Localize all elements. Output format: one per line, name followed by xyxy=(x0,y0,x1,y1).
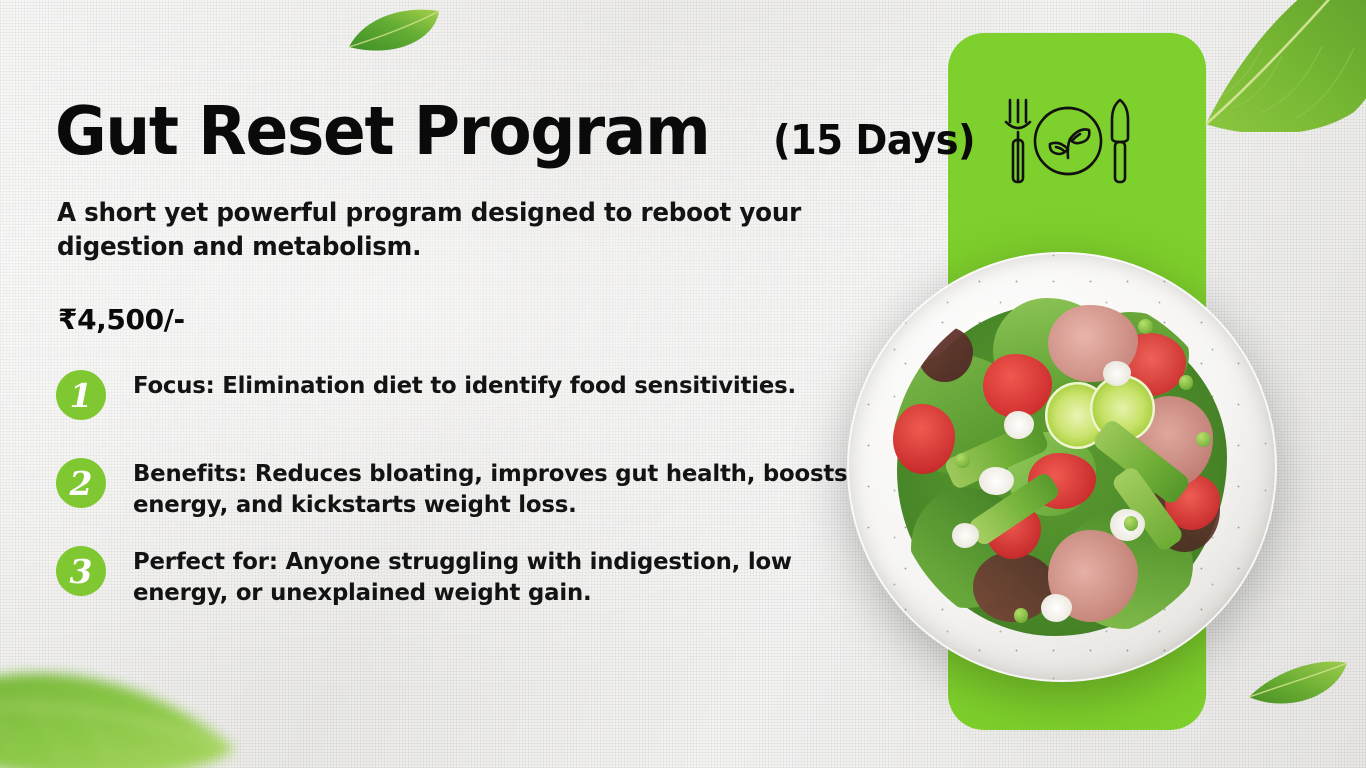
list-number-badge: 1 xyxy=(56,370,106,420)
list-item: 2 Benefits: Reduces bloating, improves g… xyxy=(56,456,886,522)
list-item-text: Benefits: Reduces bloating, improves gut… xyxy=(133,456,863,519)
list-number-badge: 2 xyxy=(56,458,106,508)
text-content: Gut Reset Program (15 Days) A short yet … xyxy=(0,0,948,768)
list-item-text: Focus: Elimination diet to identify food… xyxy=(133,368,796,401)
feature-list: 1 Focus: Elimination diet to identify fo… xyxy=(56,368,886,632)
salad-bowl-photo xyxy=(847,252,1277,682)
plate-fork-knife-sprout-icon xyxy=(992,92,1144,190)
list-item: 1 Focus: Elimination diet to identify fo… xyxy=(56,368,886,434)
title-main-text: Gut Reset Program xyxy=(55,98,709,165)
subtitle-text: A short yet powerful program designed to… xyxy=(57,197,868,264)
list-number-badge: 3 xyxy=(56,546,106,596)
list-item: 3 Perfect for: Anyone struggling with in… xyxy=(56,544,886,610)
salad-contents xyxy=(890,291,1234,644)
poster-canvas: Gut Reset Program (15 Days) A short yet … xyxy=(0,0,1366,768)
plate-ceramic xyxy=(847,252,1277,682)
list-item-text: Perfect for: Anyone struggling with indi… xyxy=(133,544,863,607)
title-duration-text: (15 Days) xyxy=(773,120,975,161)
page-title: Gut Reset Program (15 Days) xyxy=(55,98,988,165)
leaf-top-right-large-icon xyxy=(1204,0,1366,132)
price-text: ₹4,500/- xyxy=(58,303,185,336)
